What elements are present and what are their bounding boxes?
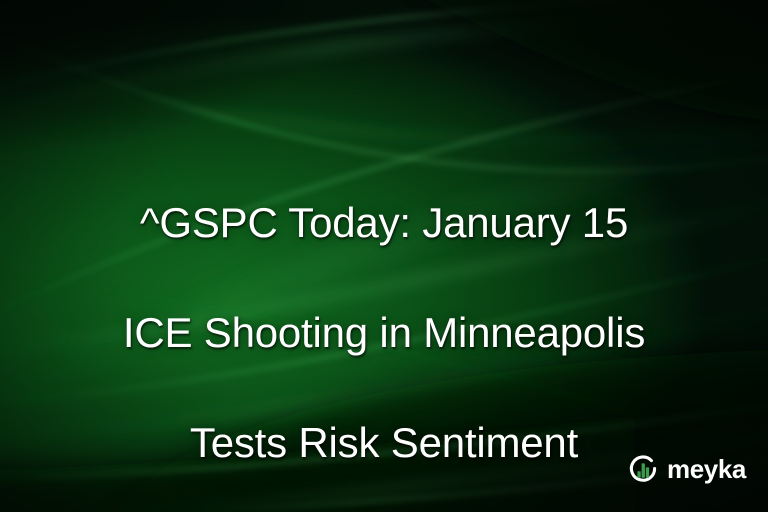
meyka-logo[interactable]: meyka	[626, 453, 746, 487]
meyka-wordmark: meyka	[667, 456, 746, 484]
headline-line-1: ^GSPC Today: January 15	[26, 195, 742, 250]
headline-line-2: ICE Shooting in Minneapolis	[26, 305, 742, 360]
social-share-banner: ^GSPC Today: January 15 ICE Shooting in …	[0, 0, 768, 512]
meyka-circle-barchart-icon	[626, 453, 660, 487]
